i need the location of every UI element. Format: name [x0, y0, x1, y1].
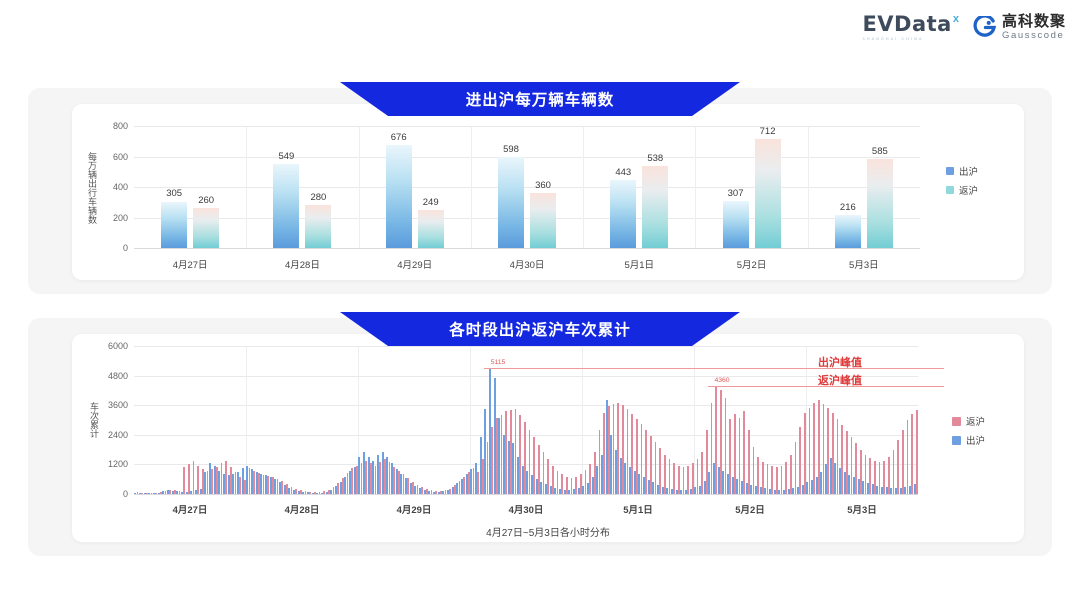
hourly-trips-chart: 车次累计0120024003600480060004月27日4月28日4月29日…	[72, 334, 980, 524]
evdata-wordmark: EVData	[862, 14, 951, 35]
evdata-tagline: SHANGHAI CHINA	[862, 37, 923, 41]
bar-出沪	[723, 201, 749, 248]
y-tick-label: 1200	[94, 459, 128, 469]
y-tick-label: 3600	[94, 400, 128, 410]
gridline	[134, 405, 918, 406]
hourly-trips-card: 车次累计0120024003600480060004月27日4月28日4月29日…	[28, 318, 1052, 556]
x-tick-label: 5月2日	[737, 257, 767, 271]
slide-root: EVData x SHANGHAI CHINA 高科数聚 Gausscode 每…	[0, 0, 1080, 608]
legend-item-返沪: 返沪	[952, 414, 985, 428]
daily-vehicles-card: 每万辆出行车辆数02004006008004月27日3052604月28日549…	[28, 88, 1052, 294]
hourly-bar-返沪	[897, 440, 899, 494]
bar-出沪	[610, 180, 636, 248]
peak-value-出沪峰值: 5115	[491, 359, 506, 366]
y-tick-label: 6000	[94, 341, 128, 351]
x-tick-label: 5月1日	[623, 502, 653, 516]
x-tick-label: 4月27日	[173, 257, 208, 271]
x-tick-label: 5月3日	[849, 257, 879, 271]
gridline	[134, 218, 920, 219]
bar-返沪	[755, 139, 781, 248]
legend-label: 出沪	[959, 164, 978, 178]
hourly-bar-返沪	[183, 467, 185, 494]
hourly-bar-返沪	[193, 461, 195, 494]
bar-返沪	[418, 210, 444, 248]
y-tick-label: 0	[94, 489, 128, 499]
bar-value-label: 585	[872, 146, 888, 157]
bar-value-label: 305	[166, 188, 182, 199]
y-tick-label: 200	[98, 213, 128, 223]
bar-value-label: 249	[423, 197, 439, 208]
x-tick-label: 5月3日	[847, 502, 877, 516]
category-separator	[246, 126, 247, 248]
hourly-bar-返沪	[907, 420, 909, 494]
x-tick-label: 4月29日	[397, 257, 432, 271]
gridline	[134, 248, 920, 249]
legend-swatch	[946, 167, 954, 175]
legend-swatch	[952, 436, 961, 445]
daily-vehicles-chart: 每万辆出行车辆数02004006008004月27日3052604月28日549…	[72, 104, 980, 280]
gridline	[134, 157, 920, 158]
bar-value-label: 216	[840, 202, 856, 213]
y-tick-label: 800	[98, 121, 128, 131]
y-tick-label: 4800	[94, 371, 128, 381]
hourly-trips-title: 各时段出沪返沪车次累计	[449, 318, 631, 340]
bar-返沪	[305, 205, 331, 248]
y-tick-label: 400	[98, 182, 128, 192]
bar-value-label: 307	[728, 188, 744, 199]
bar-value-label: 280	[310, 192, 326, 203]
bar-出沪	[161, 202, 187, 249]
gausscode-name-en: Gausscode	[1002, 31, 1066, 41]
bar-value-label: 443	[615, 167, 631, 178]
legend-swatch	[952, 417, 961, 426]
gridline	[134, 494, 918, 495]
x-tick-label: 4月29日	[397, 502, 432, 516]
x-tick-label: 4月30日	[510, 257, 545, 271]
bar-出沪	[498, 157, 524, 248]
category-separator	[583, 126, 584, 248]
hourly-bar-返沪	[188, 464, 190, 494]
bar-出沪	[386, 145, 412, 248]
y-tick-label: 600	[98, 152, 128, 162]
x-tick-label: 5月2日	[735, 502, 765, 516]
daily-vehicles-panel: 每万辆出行车辆数02004006008004月27日3052604月28日549…	[72, 104, 1024, 280]
gausscode-mark-icon	[973, 16, 996, 39]
bar-返沪	[193, 208, 219, 248]
bar-value-label: 549	[278, 151, 294, 162]
peak-label-返沪峰值: 返沪峰值	[818, 372, 862, 388]
bar-返沪	[530, 193, 556, 248]
legend-label: 返沪	[959, 183, 978, 197]
hourly-trips-title-banner: 各时段出沪返沪车次累计	[340, 312, 740, 346]
legend-label: 出沪	[966, 433, 985, 447]
bar-value-label: 598	[503, 144, 519, 155]
hourly-bar-返沪	[902, 430, 904, 494]
bar-value-label: 260	[198, 195, 214, 206]
evdata-logo: EVData x SHANGHAI CHINA	[862, 14, 959, 41]
x-tick-label: 4月30日	[509, 502, 544, 516]
brand-header: EVData x SHANGHAI CHINA 高科数聚 Gausscode	[862, 14, 1066, 41]
y-tick-label: 0	[98, 243, 128, 253]
category-separator	[471, 126, 472, 248]
x-tick-label: 5月1日	[624, 257, 654, 271]
gausscode-logo: 高科数聚 Gausscode	[973, 14, 1066, 41]
daily-vehicles-legend: 出沪返沪	[946, 164, 978, 197]
category-separator	[808, 126, 809, 248]
bar-value-label: 538	[647, 153, 663, 164]
x-tick-label: 4月27日	[173, 502, 208, 516]
bar-出沪	[835, 215, 861, 248]
bar-value-label: 360	[535, 180, 551, 191]
hourly-trips-caption: 4月27日~5月3日各小时分布	[72, 524, 1024, 539]
legend-swatch	[946, 186, 954, 194]
x-tick-label: 4月28日	[285, 502, 320, 516]
peak-label-出沪峰值: 出沪峰值	[818, 354, 862, 370]
peak-value-返沪峰值: 4360	[714, 377, 729, 384]
hourly-trips-legend: 返沪出沪	[952, 414, 985, 447]
legend-item-返沪: 返沪	[946, 183, 978, 197]
legend-item-出沪: 出沪	[946, 164, 978, 178]
gridline	[134, 126, 920, 127]
hourly-bar-返沪	[743, 411, 745, 494]
legend-label: 返沪	[966, 414, 985, 428]
x-tick-label: 4月28日	[285, 257, 320, 271]
daily-vehicles-title-banner: 进出沪每万辆车辆数	[340, 82, 740, 116]
bar-value-label: 676	[391, 132, 407, 143]
category-separator	[695, 126, 696, 248]
bar-返沪	[642, 166, 668, 248]
gridline	[134, 187, 920, 188]
evdata-x-icon: x	[953, 13, 959, 25]
gridline	[134, 376, 918, 377]
bar-value-label: 712	[760, 126, 776, 137]
hourly-bar-返沪	[916, 410, 918, 494]
y-tick-label: 2400	[94, 430, 128, 440]
peak-line-出沪峰值	[484, 368, 944, 369]
gridline	[134, 346, 918, 347]
hourly-bar-返沪	[911, 414, 913, 494]
daily-vehicles-title: 进出沪每万辆车辆数	[466, 88, 615, 110]
category-separator	[359, 126, 360, 248]
hourly-trips-panel: 车次累计0120024003600480060004月27日4月28日4月29日…	[72, 334, 1024, 542]
legend-item-出沪: 出沪	[952, 433, 985, 447]
gausscode-name-cn: 高科数聚	[1002, 14, 1066, 29]
bar-出沪	[273, 164, 299, 248]
bar-返沪	[867, 159, 893, 248]
